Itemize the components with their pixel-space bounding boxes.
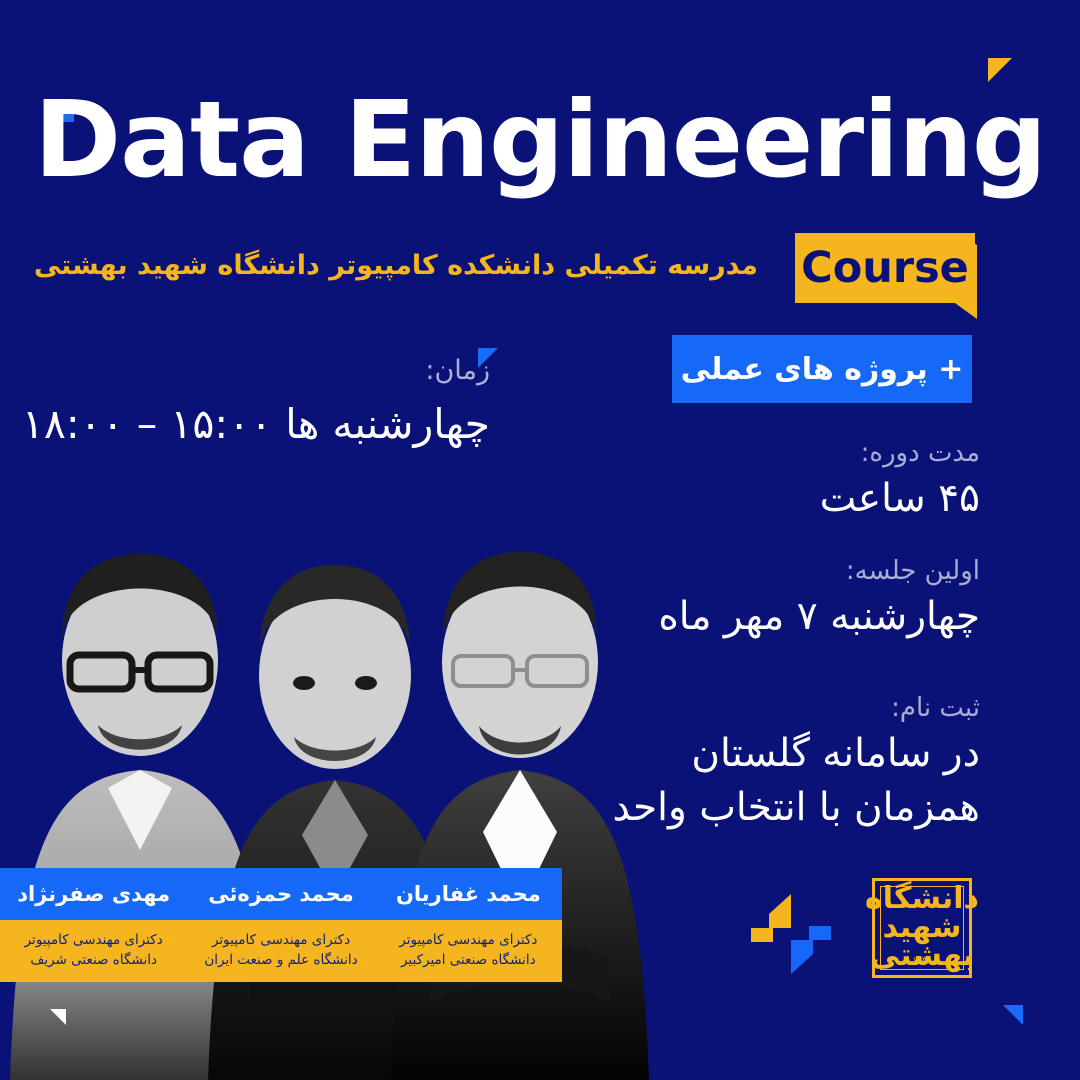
detail-registration-value-2: همزمان با انتخاب واحد xyxy=(613,783,980,834)
page-title: Data Engineering xyxy=(0,88,1080,193)
instructor-credential-2: دکترای مهندسی کامپیوتر دانشگاه علم و صنع… xyxy=(187,920,374,982)
triangle-marker-bottom-right-icon xyxy=(1003,1005,1023,1025)
detail-duration-label: مدت دوره: xyxy=(820,437,980,470)
detail-duration-value: ۴۵ ساعت xyxy=(820,474,980,525)
instructor-credential-3: دکترای مهندسی کامپیوتر دانشگاه صنعتی شری… xyxy=(0,920,187,982)
practical-projects-badge: + پروژه های عملی xyxy=(672,335,972,403)
course-badge: Course xyxy=(795,233,975,303)
instructor-credential-bar: دکترای مهندسی کامپیوتر دانشگاه صنعتی امی… xyxy=(0,920,562,982)
seal-outer-border: دانشگاه شهید بهشتی ۱۳۳۸ xyxy=(872,878,972,978)
instructor-photo-group xyxy=(0,500,650,1080)
detail-first-session-value: چهارشنبه ۷ مهر ماه xyxy=(658,592,980,643)
instructor-name-1: محمد غفاریان xyxy=(375,868,562,920)
instructor-name-bar: محمد غفاریان محمد حمزه‌ئی مهدی صفرنژاد xyxy=(0,868,562,920)
time-value: چهارشنبه ها ۱۵:۰۰ – ۱۸:۰۰ xyxy=(22,400,490,448)
instructor-university-2: دانشگاه علم و صنعت ایران xyxy=(204,951,357,971)
instructor-degree-1: دکترای مهندسی کامپیوتر xyxy=(399,931,537,951)
detail-registration-value: در سامانه گلستان xyxy=(613,729,980,780)
shahid-beheshti-university-seal-icon: دانشگاه شهید بهشتی ۱۳۳۸ xyxy=(872,878,972,978)
instructor-degree-2: دکترای مهندسی کامپیوتر xyxy=(212,931,350,951)
instructor-university-3: دانشگاه صنعتی شریف xyxy=(30,951,157,971)
instructor-university-1: دانشگاه صنعتی امیرکبیر xyxy=(401,951,536,971)
detail-registration-label: ثبت نام: xyxy=(613,692,980,725)
time-label: زمان: xyxy=(425,355,490,386)
instructor-photo-safarnejad xyxy=(375,520,650,1080)
detail-first-session-label: اولین جلسه: xyxy=(658,555,980,588)
instructor-degree-3: دکترای مهندسی کامپیوتر xyxy=(25,931,163,951)
triangle-marker-bottom-left-icon xyxy=(50,1009,66,1025)
instructor-bars: محمد غفاریان محمد حمزه‌ئی مهدی صفرنژاد د… xyxy=(0,868,562,982)
detail-duration: مدت دوره: ۴۵ ساعت xyxy=(820,437,980,524)
subtitle: مدرسه تکمیلی دانشکده کامپیوتر دانشگاه شه… xyxy=(34,250,758,281)
seal-text: دانشگاه شهید بهشتی xyxy=(865,885,979,971)
poster-canvas: Data Engineering مدرسه تکمیلی دانشکده کا… xyxy=(0,0,1080,1080)
instructor-name-2: محمد حمزه‌ئی xyxy=(187,868,374,920)
pinwheel-logo-icon xyxy=(745,888,837,980)
detail-registration: ثبت نام: در سامانه گلستان همزمان با انتخ… xyxy=(613,692,980,834)
instructor-name-3: مهدی صفرنژاد xyxy=(0,868,187,920)
detail-first-session: اولین جلسه: چهارشنبه ۷ مهر ماه xyxy=(658,555,980,642)
instructor-credential-1: دکترای مهندسی کامپیوتر دانشگاه صنعتی امی… xyxy=(375,920,562,982)
